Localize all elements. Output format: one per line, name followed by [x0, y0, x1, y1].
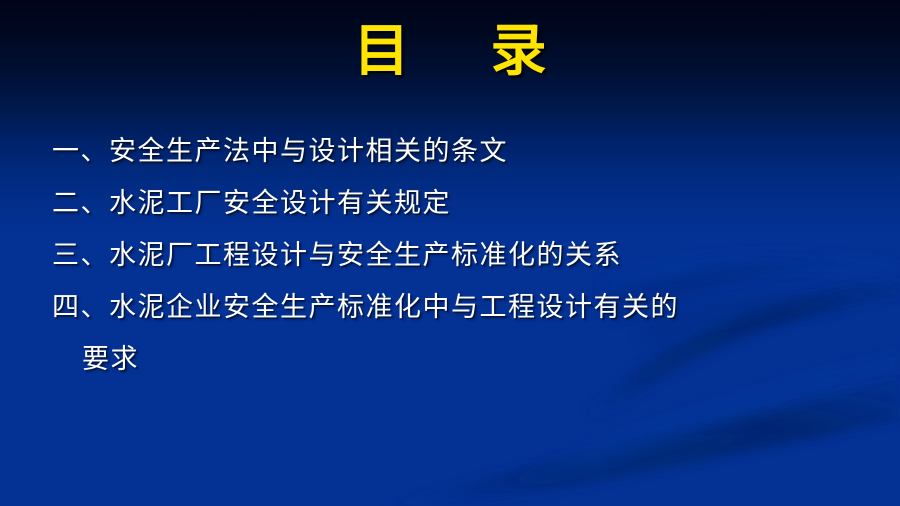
- toc-item-4-continuation: 要求: [52, 334, 852, 386]
- ribbon-band-bottom: [380, 378, 900, 506]
- toc-item-2: 二、水泥工厂安全设计有关规定: [52, 178, 852, 230]
- toc-item-1: 一、安全生产法中与设计相关的条文: [52, 126, 852, 178]
- toc-item-3: 三、水泥厂工程设计与安全生产标准化的关系: [52, 230, 852, 282]
- title-block: 目 录: [0, 20, 900, 84]
- slide-canvas: 目 录 一、安全生产法中与设计相关的条文 二、水泥工厂安全设计有关规定 三、水泥…: [0, 0, 900, 506]
- table-of-contents-list: 一、安全生产法中与设计相关的条文 二、水泥工厂安全设计有关规定 三、水泥厂工程设…: [52, 126, 852, 386]
- page-title: 目 录: [340, 20, 561, 84]
- toc-item-4: 四、水泥企业安全生产标准化中与工程设计有关的: [52, 282, 852, 334]
